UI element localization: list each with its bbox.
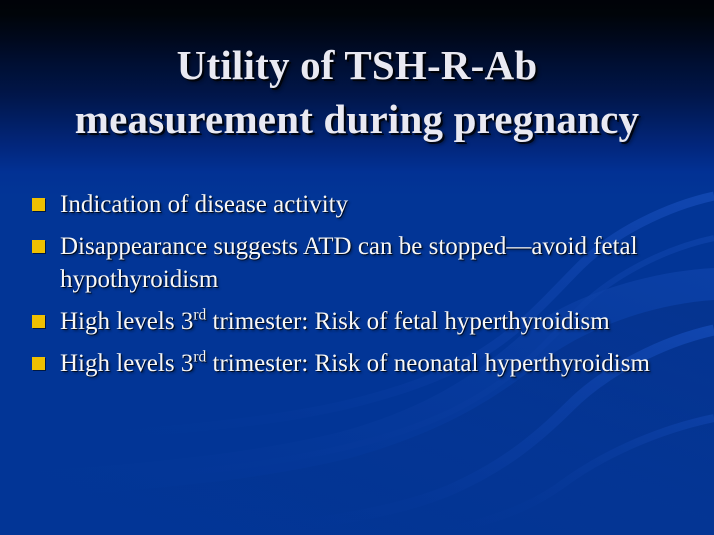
bullet-text-pre: Disappearance suggests ATD can be stoppe…	[60, 233, 638, 293]
gold-square-bullet-icon	[32, 240, 45, 253]
bullet-text-superscript: rd	[193, 307, 206, 324]
list-item: Disappearance suggests ATD can be stoppe…	[32, 230, 690, 296]
bullet-text-pre: Indication of disease activity	[60, 191, 348, 218]
bullet-list: Indication of disease activity Disappear…	[32, 188, 690, 389]
presentation-slide: Utility of TSH-R-Ab measurement during p…	[0, 0, 714, 535]
bullet-text: High levels 3rd trimester: Risk of neona…	[60, 347, 690, 380]
bullet-text-post: trimester: Risk of fetal hyperthyroidism	[206, 308, 609, 335]
bullet-text: Indication of disease activity	[60, 188, 690, 221]
bullet-text: High levels 3rd trimester: Risk of fetal…	[60, 305, 690, 338]
bullet-text: Disappearance suggests ATD can be stoppe…	[60, 230, 690, 296]
gold-square-bullet-icon	[32, 357, 45, 370]
gold-square-bullet-icon	[32, 198, 45, 211]
slide-title: Utility of TSH-R-Ab measurement during p…	[20, 38, 694, 146]
title-line-1: Utility of TSH-R-Ab	[20, 38, 694, 92]
bullet-text-pre: High levels 3	[60, 350, 193, 377]
bullet-text-pre: High levels 3	[60, 308, 193, 335]
gold-square-bullet-icon	[32, 315, 45, 328]
list-item: High levels 3rd trimester: Risk of neona…	[32, 347, 690, 380]
list-item: High levels 3rd trimester: Risk of fetal…	[32, 305, 690, 338]
title-line-2: measurement during pregnancy	[20, 92, 694, 146]
list-item: Indication of disease activity	[32, 188, 690, 221]
bullet-text-post: trimester: Risk of neonatal hyperthyroid…	[206, 350, 650, 377]
bullet-text-superscript: rd	[193, 349, 206, 366]
